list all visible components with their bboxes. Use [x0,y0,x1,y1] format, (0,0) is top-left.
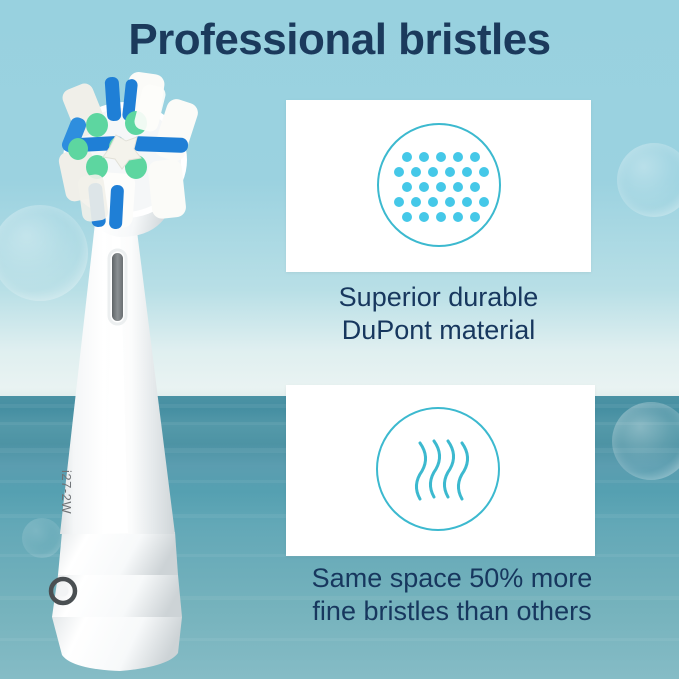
feature-card-fine-bristles [286,385,595,556]
wavy-lines-circle-icon [376,407,500,531]
wavy-lines-glyph [378,409,502,533]
feature-card-dupont [286,100,591,272]
dot-row [394,167,489,177]
product-model-label: i27-2W [59,470,74,514]
dot-row [394,197,489,207]
feature-caption-dupont: Superior durable DuPont material [276,281,601,347]
product-marketing-image: Professional bristles [0,0,679,679]
dot-row [402,182,480,192]
dot-grid [379,125,503,249]
dot-grid-circle-icon [377,123,501,247]
dot-row [402,152,480,162]
feature-caption-fine-bristles: Same space 50% more fine bristles than o… [252,562,652,628]
toothbrush-head-illustration [0,55,270,679]
dot-row [402,212,480,222]
